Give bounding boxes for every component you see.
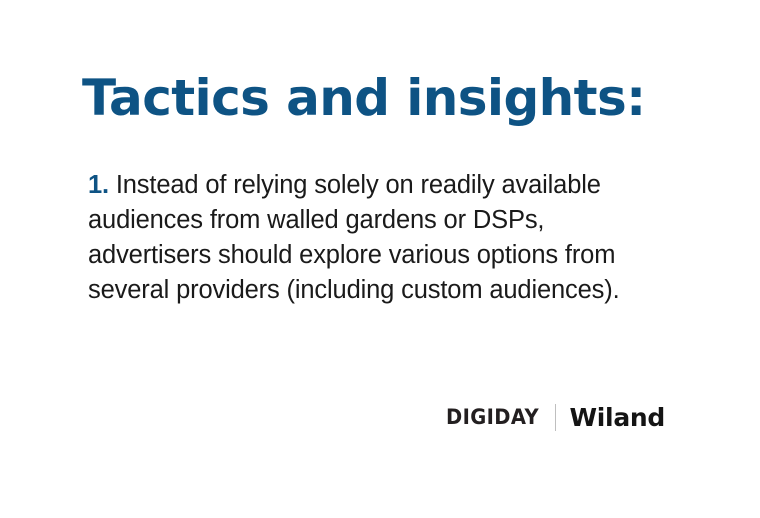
- numbered-tactic-paragraph: 1. Instead of relying solely on readily …: [88, 168, 673, 308]
- digiday-logo: DIGIDAY: [446, 407, 539, 428]
- tactic-text: Instead of relying solely on readily ava…: [88, 171, 620, 304]
- slide-canvas: Tactics and insights: 1. Instead of rely…: [0, 0, 760, 518]
- logo-divider: [555, 404, 556, 431]
- body-content: 1. Instead of relying solely on readily …: [88, 168, 673, 308]
- footer-logo-lockup: DIGIDAY Wiland: [439, 400, 665, 434]
- page-title: Tactics and insights:: [82, 72, 702, 125]
- tactic-number: 1.: [88, 171, 109, 199]
- wiland-logo: Wiland: [570, 405, 665, 430]
